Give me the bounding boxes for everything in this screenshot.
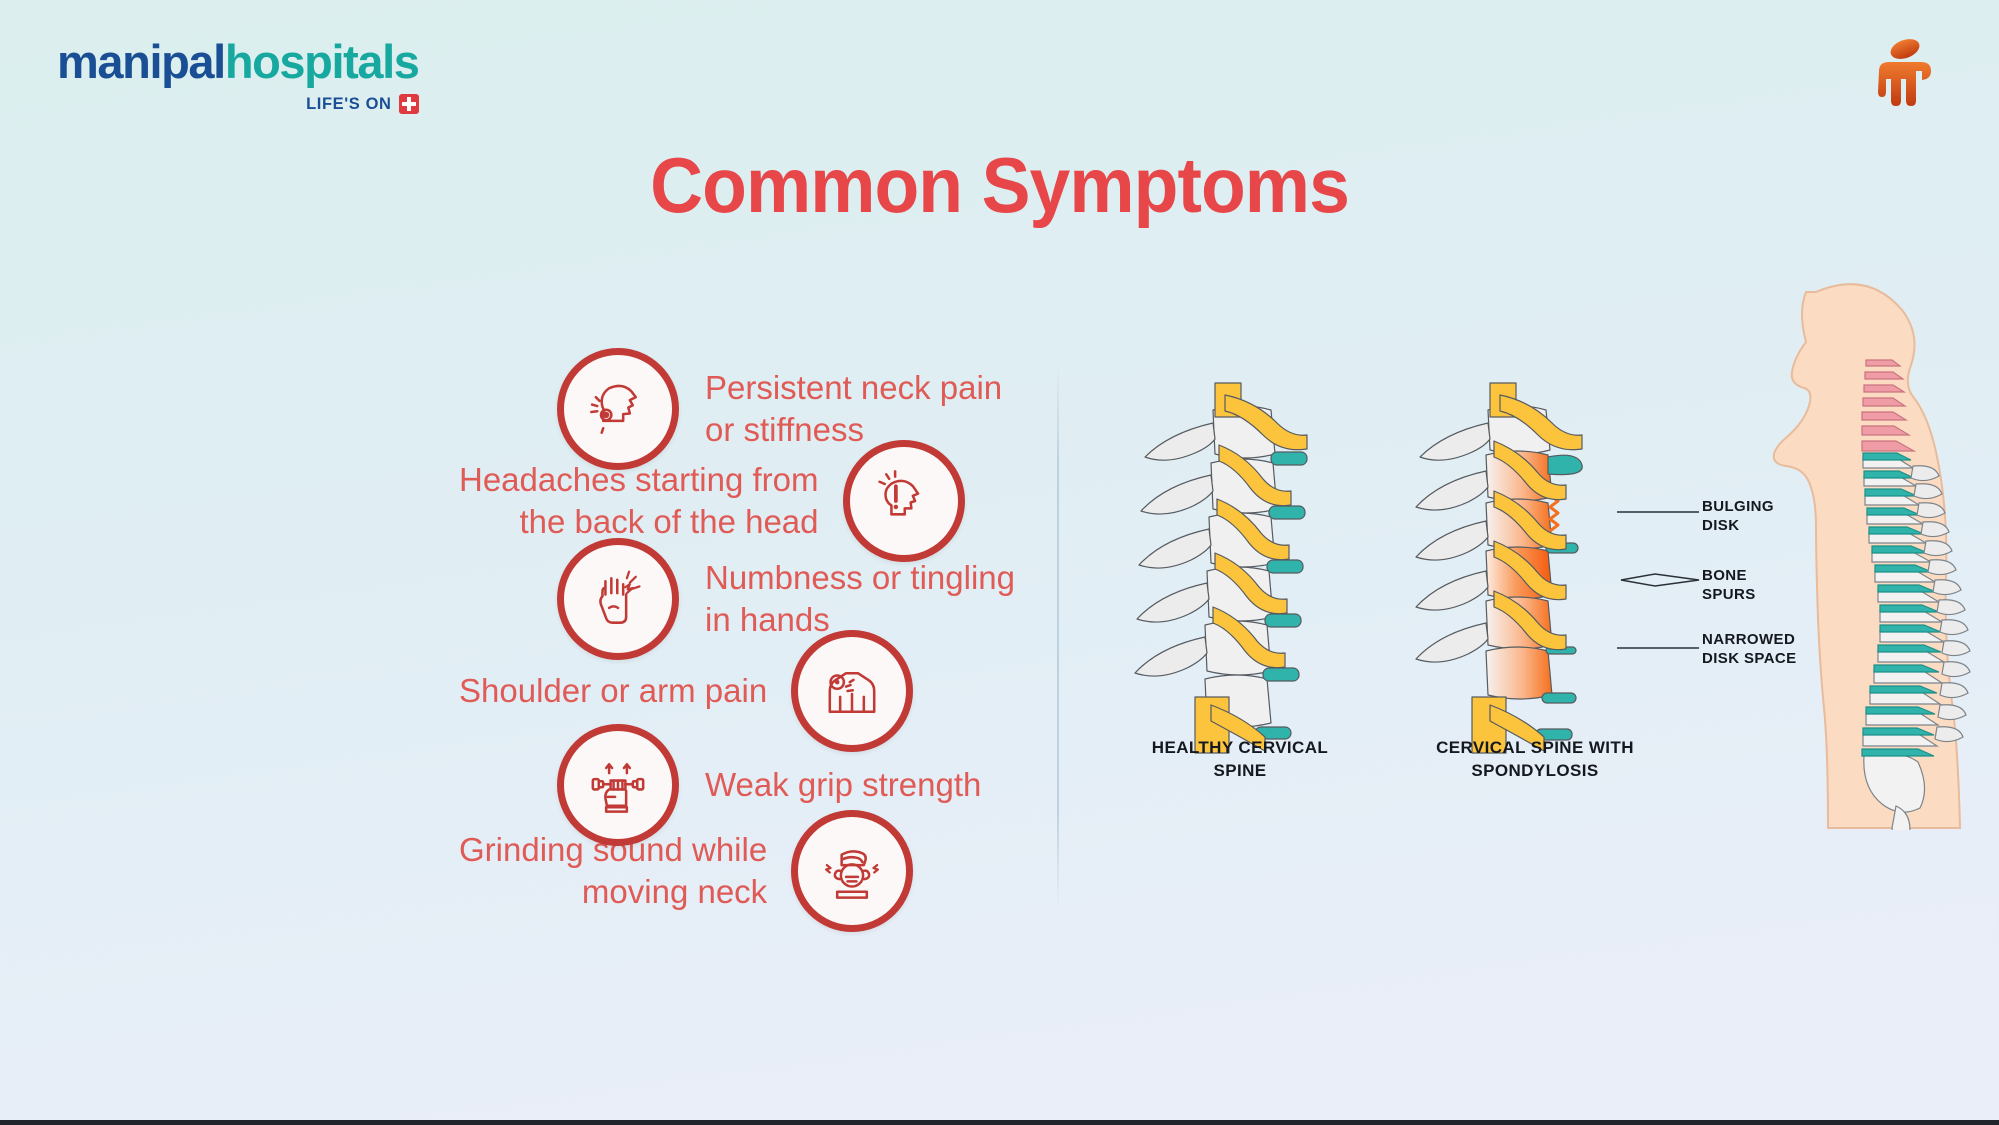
symptom-label: Persistent neck pain or stiffness [705,367,1002,451]
spondylosis-spine-caption: CERVICAL SPINE WITH SPONDYLOSIS [1385,737,1685,783]
brand-logo[interactable]: manipalhospitals LIFE'S ON [57,38,419,114]
brand-word-secondary: hospitals [225,35,419,88]
brand-tagline: LIFE'S ON [306,96,391,113]
page-title: Common Symptoms [60,140,1939,231]
symptom-item-grinding-sound[interactable]: Grinding sound while moving neck [459,810,913,932]
column-divider [1057,365,1059,910]
symptoms-panel: Persistent neck pain or stiffness Headac… [0,340,1055,960]
medical-cross-icon [399,94,419,114]
grip-dumbbell-icon [557,724,679,846]
neck-grinding-icon [791,810,913,932]
brand-wordmark: manipalhospitals [57,38,419,85]
footer-bar [0,1120,1999,1125]
healthy-spine-caption: HEALTHY CERVICAL SPINE [1090,737,1390,783]
head-headache-icon [843,440,965,562]
body-silhouette-spine-illustration [1720,270,1999,830]
symptom-label: Weak grip strength [705,764,981,806]
healthy-cervical-spine-illustration [1095,375,1385,775]
head-neck-pain-icon [557,348,679,470]
brand-word-primary: manipal [57,35,225,88]
corner-logo-mark-icon [1869,35,1939,110]
anatomy-panel: HEALTHY CERVICAL SPINE CERVICAL SPINE WI… [1060,330,1999,1010]
brand-tagline-row: LIFE'S ON [57,94,419,114]
shoulder-pain-icon [791,630,913,752]
hand-tingling-icon [557,538,679,660]
symptom-label: Headaches starting from the back of the … [459,459,819,543]
symptom-label: Numbness or tingling in hands [705,557,1015,641]
symptom-label: Shoulder or arm pain [459,670,767,712]
